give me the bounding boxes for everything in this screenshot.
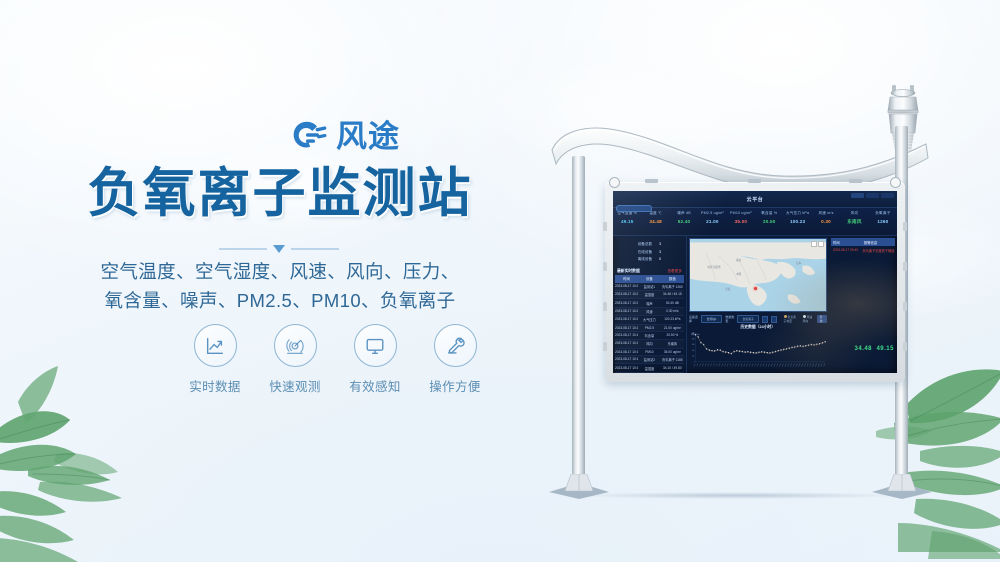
cell-time: 2023-08-17 10:17:00 bbox=[615, 349, 638, 355]
metric-strip: 空气湿度 % 49.15 温度 ℃ 34.48 噪声 dB 52.40 PM2.… bbox=[613, 208, 897, 236]
view-more-link[interactable]: 查看更多 bbox=[667, 269, 681, 274]
svg-text:1200: 1200 bbox=[692, 344, 695, 346]
metric-label: 负氧离子 bbox=[869, 211, 897, 216]
cell-value: 34.48 / 49.15 bbox=[661, 291, 684, 298]
map-label: 蒙古 bbox=[736, 258, 741, 262]
cell-value: 0.30 m/s bbox=[661, 308, 684, 315]
cell-device: 噪声 bbox=[638, 299, 661, 306]
metric-card: 负氧离子 1260 bbox=[869, 208, 897, 235]
metric-value: 100.23 bbox=[783, 219, 811, 224]
cell-value: 52.40 dB bbox=[661, 299, 684, 306]
metric-label: 噪声 dB bbox=[670, 211, 698, 216]
svg-text:23:00: 23:00 bbox=[762, 363, 765, 367]
layers-icon[interactable] bbox=[818, 241, 824, 247]
device-summary: 设备总数 3 在线设备 3 离线设备 0 bbox=[615, 238, 684, 268]
svg-text:11:30: 11:30 bbox=[699, 363, 702, 367]
cell-time: 2023-08-17 10:20:00 bbox=[615, 325, 638, 331]
feature-item-effective-sensing[interactable]: 有效感知 bbox=[335, 324, 415, 395]
feature-label: 操作方便 bbox=[415, 376, 495, 395]
legend-item: 风速风向 bbox=[803, 315, 814, 323]
svg-text:17:30: 17:30 bbox=[732, 363, 735, 367]
cell-value: 东南风 bbox=[661, 340, 684, 347]
datatype-select[interactable]: 负氧离子 bbox=[737, 315, 759, 323]
svg-text:22:00: 22:00 bbox=[757, 363, 760, 367]
brand-name: 风途 bbox=[336, 121, 400, 152]
summary-value: 0 bbox=[659, 256, 661, 264]
hanger-ring-left bbox=[609, 177, 620, 188]
svg-text:04:30: 04:30 bbox=[793, 363, 796, 367]
cell-time: 2023-08-17 10:18:00 bbox=[615, 340, 638, 347]
table-title: 最新实时数据 bbox=[617, 269, 640, 274]
cell-device: 温湿度 bbox=[638, 291, 661, 298]
cell-time: 2023-08-17 10:21:00 bbox=[615, 316, 638, 323]
station-map[interactable]: 中国 蒙古 哈萨克斯坦 印度 日本 bbox=[689, 238, 827, 312]
hero-text-panel: 风途 负氧离子监测站 空气温度、空气湿度、风速、风向、压力、 氧含量、噪声、PM… bbox=[0, 0, 560, 562]
svg-text:18:30: 18:30 bbox=[737, 363, 740, 367]
legend-item: 负氧离子浓度 bbox=[784, 315, 799, 323]
mount-tab bbox=[849, 179, 862, 183]
zoom-in-icon[interactable] bbox=[811, 241, 817, 247]
title-divider bbox=[219, 243, 339, 255]
page-title: 负氧离子监测站 bbox=[0, 164, 560, 223]
svg-text:14:00: 14:00 bbox=[713, 363, 716, 367]
hanger-ring-right bbox=[890, 177, 901, 188]
device-select-label: 设备选择 bbox=[689, 315, 698, 323]
metric-value: 0.30 bbox=[812, 219, 840, 224]
feature-icon-row: 实时数据 快速观测 bbox=[175, 324, 495, 395]
svg-text:20:00: 20:00 bbox=[746, 363, 749, 367]
header-nav[interactable] bbox=[851, 193, 894, 198]
table-caption: 最新实时数据 查看更多 bbox=[615, 268, 684, 275]
cell-device: 风向 bbox=[638, 340, 661, 347]
active-station-tab[interactable] bbox=[616, 205, 652, 212]
metric-card: 噪声 dB 52.40 bbox=[670, 208, 698, 235]
summary-label: 离线设备 bbox=[638, 256, 652, 264]
cell-time: 2023-08-17 10:24:00 bbox=[615, 291, 638, 298]
svg-text:06:30: 06:30 bbox=[804, 363, 807, 367]
map-label: 中国 bbox=[736, 272, 741, 276]
cell-time: 2023-08-17 10:25:00 bbox=[615, 283, 638, 290]
table-row[interactable]: 2023-08-17 10:25:00 监测站1 负氧离子 1260 bbox=[615, 283, 684, 291]
svg-text:16:30: 16:30 bbox=[726, 363, 729, 367]
svg-text:12:30: 12:30 bbox=[704, 363, 707, 367]
view-toggle-table-icon[interactable] bbox=[762, 316, 768, 323]
table-row[interactable]: 2023-08-17 10:15:00 温湿度 34.10 / 49.80 bbox=[615, 364, 684, 372]
summary-label: 在线设备 bbox=[638, 249, 652, 257]
metric-card: 氧含量 % 20.50 bbox=[755, 208, 783, 235]
side-notch bbox=[603, 342, 607, 351]
svg-text:400: 400 bbox=[692, 356, 694, 358]
wrench-icon bbox=[434, 324, 477, 367]
svg-text:11:00: 11:00 bbox=[696, 363, 699, 367]
alarm-time: 2023-08-17 09:40 bbox=[831, 246, 861, 254]
line-chart-icon bbox=[194, 324, 237, 367]
svg-text:23:30: 23:30 bbox=[765, 363, 768, 367]
svg-text:1600: 1600 bbox=[692, 338, 695, 340]
metric-card: 风速 m/s 0.30 bbox=[812, 208, 840, 235]
map-label: 印度 bbox=[725, 287, 730, 291]
feature-item-easy-operation[interactable]: 操作方便 bbox=[415, 324, 495, 395]
side-notch bbox=[603, 262, 607, 271]
left-panel: 设备总数 3 在线设备 3 离线设备 0 最新实时数据 bbox=[613, 236, 687, 373]
metric-value: 52.40 bbox=[670, 219, 698, 224]
subtitle-line-2: 氧含量、噪声、PM2.5、PM10、负氧离子 bbox=[0, 286, 560, 315]
svg-text:20:30: 20:30 bbox=[748, 363, 751, 367]
table-row[interactable]: 2023-08-17 10:23:00 噪声 52.40 dB bbox=[615, 299, 684, 307]
center-panel: 中国 蒙古 哈萨克斯坦 印度 日本 设备选择 监测站1 bbox=[687, 236, 829, 373]
column-header: 时间 bbox=[615, 275, 638, 283]
metric-value: 49.15 bbox=[613, 219, 641, 224]
table-row[interactable]: 2023-08-17 10:21:00 大气压力 100.23 kPa bbox=[615, 316, 684, 324]
right-panel: 时间 报警信息 2023-08-17 09:40 负氧离子浓度低于阈值 34.4… bbox=[829, 236, 897, 373]
dashboard-body: 设备总数 3 在线设备 3 离线设备 0 最新实时数据 bbox=[613, 236, 897, 373]
side-notch bbox=[603, 222, 607, 231]
column-header: 数值 bbox=[661, 275, 684, 283]
metric-card: 空气湿度 % 49.15 bbox=[613, 208, 641, 235]
table-row[interactable]: 2023-08-17 10:20:00 PM2.5 21.00 ug/m³ bbox=[615, 325, 684, 332]
big-readout: 34.48 49.15 bbox=[855, 337, 894, 355]
svg-text:14:30: 14:30 bbox=[715, 363, 718, 367]
readout-left: 34.48 bbox=[855, 346, 873, 352]
svg-text:07:00: 07:00 bbox=[806, 363, 809, 367]
query-button[interactable]: 查询 bbox=[817, 315, 827, 323]
cell-value: 100.23 kPa bbox=[661, 316, 684, 323]
side-notch bbox=[603, 302, 607, 311]
metric-card: 温度 ℃ 34.48 bbox=[641, 208, 669, 235]
subtitle-line-1: 空气温度、空气湿度、风速、风向、压力、 bbox=[0, 257, 560, 286]
svg-text:800: 800 bbox=[692, 350, 694, 352]
chart-legend[interactable]: 负氧离子浓度 风速风向 bbox=[784, 315, 814, 323]
svg-text:18:00: 18:00 bbox=[735, 363, 738, 367]
metric-card: 大气压力 kPa 100.23 bbox=[783, 208, 811, 235]
column-header: 设备 bbox=[638, 275, 661, 283]
header-chip[interactable] bbox=[851, 193, 864, 198]
svg-text:13:30: 13:30 bbox=[710, 363, 713, 367]
table-row[interactable]: 2023-08-17 10:24:00 温湿度 34.48 / 49.15 bbox=[615, 291, 684, 299]
cell-time: 2023-08-17 10:15:00 bbox=[615, 364, 638, 371]
svg-text:06:00: 06:00 bbox=[801, 363, 804, 367]
map-marker-station[interactable] bbox=[754, 287, 757, 290]
metric-card: PM10 ug/m³ 35.00 bbox=[727, 208, 755, 235]
cell-device: PM10 bbox=[638, 349, 661, 355]
svg-text:19:00: 19:00 bbox=[740, 363, 743, 367]
svg-text:02:30: 02:30 bbox=[782, 363, 785, 367]
svg-text:03:00: 03:00 bbox=[784, 363, 787, 367]
metric-label: 大气压力 kPa bbox=[783, 211, 811, 216]
cell-device: 监测站2 bbox=[638, 356, 661, 363]
table-row[interactable]: 2023-08-17 10:19:00 氧含量 20.50 % bbox=[615, 332, 684, 340]
cell-time: 2023-08-17 10:22:00 bbox=[615, 308, 638, 315]
svg-text:04:00: 04:00 bbox=[790, 363, 793, 367]
feature-item-realtime-data[interactable]: 实时数据 bbox=[175, 324, 255, 395]
dashboard-title: 云平台 bbox=[747, 196, 764, 203]
cell-device: 温湿度 bbox=[638, 364, 661, 371]
column-header: 报警信息 bbox=[862, 238, 880, 246]
feature-label: 有效感知 bbox=[335, 376, 415, 395]
metric-label: 风速 m/s bbox=[812, 211, 840, 216]
history-line-chart[interactable]: 0400800120016002000负氧离子 (个/cm³)10:3011:0… bbox=[689, 331, 827, 373]
metric-value: 35.00 bbox=[727, 219, 755, 224]
side-notch bbox=[903, 302, 907, 311]
metric-card: PM2.5 ug/m³ 21.00 bbox=[698, 208, 726, 235]
svg-text:00:00: 00:00 bbox=[768, 363, 771, 367]
feature-subtitle: 空气温度、空气湿度、风速、风向、压力、 氧含量、噪声、PM2.5、PM10、负氧… bbox=[0, 257, 560, 315]
wind-g-logo-icon bbox=[287, 115, 329, 157]
summary-row: 设备总数 3 bbox=[617, 241, 682, 249]
chart-title: 历史数据（24小时） bbox=[689, 325, 827, 330]
alarm-table-header: 时间 报警信息 bbox=[831, 238, 895, 246]
feature-item-fast-observation[interactable]: 快速观测 bbox=[255, 324, 335, 395]
svg-text:15:00: 15:00 bbox=[718, 363, 721, 367]
svg-text:0: 0 bbox=[693, 361, 694, 363]
table-row[interactable]: 2023-08-17 10:16:00 监测站2 负氧离子 1185 bbox=[615, 356, 684, 364]
metric-label: 氧含量 % bbox=[755, 211, 783, 216]
feature-label: 快速观测 bbox=[255, 376, 335, 395]
cell-device: 监测站1 bbox=[638, 283, 661, 290]
svg-text:21:30: 21:30 bbox=[754, 363, 757, 367]
header-chip[interactable] bbox=[881, 193, 894, 198]
cell-device: PM2.5 bbox=[638, 325, 661, 331]
side-notch bbox=[903, 262, 907, 271]
summary-row: 在线设备 3 bbox=[617, 249, 682, 257]
side-notch bbox=[903, 222, 907, 231]
svg-text:01:00: 01:00 bbox=[773, 363, 776, 367]
metric-card: 风向 东南风 bbox=[840, 208, 868, 235]
cell-time: 2023-08-17 10:19:00 bbox=[615, 332, 638, 339]
svg-text:21:00: 21:00 bbox=[751, 363, 754, 367]
outdoor-display-enclosure: 云平台 空气湿度 % 49.15 温度 ℃ 34.48 bbox=[605, 182, 905, 382]
header-chip[interactable] bbox=[866, 193, 879, 198]
cell-time: 2023-08-17 10:23:00 bbox=[615, 299, 638, 306]
cell-time: 2023-08-17 10:16:00 bbox=[615, 356, 638, 363]
datatype-select-label: 数据类型 bbox=[725, 315, 734, 323]
svg-text:09:00: 09:00 bbox=[817, 363, 820, 367]
metric-value: 34.48 bbox=[641, 219, 669, 224]
metric-value: 1260 bbox=[869, 219, 897, 224]
alarm-message: 负氧离子浓度低于阈值 bbox=[861, 246, 895, 254]
map-label: 哈萨克斯坦 bbox=[708, 265, 721, 269]
dashboard-screen[interactable]: 云平台 空气湿度 % 49.15 温度 ℃ 34.48 bbox=[613, 191, 897, 373]
svg-text:07:30: 07:30 bbox=[809, 363, 812, 367]
svg-text:05:30: 05:30 bbox=[798, 363, 801, 367]
cell-value: 负氧离子 1185 bbox=[661, 356, 684, 363]
metric-value: 21.00 bbox=[698, 219, 726, 224]
cell-value: 34.10 / 49.80 bbox=[661, 364, 684, 371]
metric-label: PM2.5 ug/m³ bbox=[698, 211, 726, 216]
svg-text:08:00: 08:00 bbox=[812, 363, 815, 367]
svg-text:12:00: 12:00 bbox=[702, 363, 705, 367]
station-tab-pill[interactable] bbox=[616, 205, 652, 212]
svg-text:02:00: 02:00 bbox=[779, 363, 782, 367]
summary-label: 设备总数 bbox=[638, 241, 652, 249]
table-row[interactable]: 2023-08-17 10:22:00 风速 0.30 m/s bbox=[615, 308, 684, 316]
map-label: 日本 bbox=[796, 261, 801, 265]
svg-text:08:30: 08:30 bbox=[815, 363, 818, 367]
radar-signal-icon bbox=[274, 324, 317, 367]
metric-value: 20.50 bbox=[755, 219, 783, 224]
table-row[interactable]: 2023-08-17 10:17:00 PM10 35.00 ug/m³ bbox=[615, 349, 684, 356]
summary-row: 离线设备 0 bbox=[617, 256, 682, 264]
svg-text:16:00: 16:00 bbox=[724, 363, 727, 367]
column-header: 时间 bbox=[831, 238, 862, 246]
table-body: 2023-08-17 10:25:00 监测站1 负氧离子 1260 2023-… bbox=[615, 283, 684, 373]
svg-text:17:00: 17:00 bbox=[729, 363, 732, 367]
dashboard-header: 云平台 bbox=[613, 191, 897, 208]
metric-value: 东南风 bbox=[840, 219, 868, 225]
metric-label: PM10 ug/m³ bbox=[727, 211, 755, 216]
brand-logo: 风途 bbox=[287, 115, 400, 157]
device-select[interactable]: 监测站1 bbox=[701, 315, 723, 323]
cell-device: 大气压力 bbox=[638, 316, 661, 323]
cell-value: 负氧离子 1260 bbox=[661, 283, 684, 290]
support-post-left bbox=[572, 156, 585, 486]
svg-text:01:30: 01:30 bbox=[776, 363, 779, 367]
cell-device: 风速 bbox=[638, 308, 661, 315]
alarm-row[interactable]: 2023-08-17 09:40 负氧离子浓度低于阈值 bbox=[831, 246, 895, 254]
cell-value: 20.50 % bbox=[661, 332, 684, 339]
svg-text:09:30: 09:30 bbox=[820, 363, 823, 367]
feature-label: 实时数据 bbox=[175, 376, 255, 395]
monitor-icon bbox=[354, 324, 397, 367]
chart-controls: 设备选择 监测站1 数据类型 负氧离子 负氧离子浓度 风速风向 查询 bbox=[689, 315, 827, 323]
svg-text:22:30: 22:30 bbox=[760, 363, 763, 367]
summary-value: 3 bbox=[659, 241, 661, 249]
readout-right: 49.15 bbox=[876, 346, 894, 352]
svg-text:19:30: 19:30 bbox=[743, 363, 746, 367]
svg-text:00:30: 00:30 bbox=[771, 363, 774, 367]
table-header: 时间 设备 数值 bbox=[615, 275, 684, 283]
cell-value: 21.00 ug/m³ bbox=[661, 325, 684, 331]
metric-label: 风向 bbox=[840, 211, 868, 216]
cell-device: 氧含量 bbox=[638, 332, 661, 339]
ground-shadow bbox=[570, 492, 900, 499]
summary-value: 3 bbox=[659, 249, 661, 257]
cell-value: 35.00 ug/m³ bbox=[661, 349, 684, 355]
svg-text:05:00: 05:00 bbox=[795, 363, 798, 367]
monitoring-station-kiosk: 云平台 空气湿度 % 49.15 温度 ℃ 34.48 bbox=[520, 60, 960, 530]
side-notch bbox=[903, 342, 907, 351]
view-toggle-chart-icon[interactable] bbox=[771, 316, 777, 323]
table-row[interactable]: 2023-08-17 10:18:00 风向 东南风 bbox=[615, 340, 684, 348]
svg-text:10:00: 10:00 bbox=[823, 363, 826, 367]
map-controls[interactable] bbox=[811, 241, 824, 247]
svg-text:13:00: 13:00 bbox=[707, 363, 710, 367]
svg-text:15:30: 15:30 bbox=[721, 363, 724, 367]
mount-tab bbox=[645, 179, 658, 183]
mount-tab bbox=[748, 179, 761, 183]
svg-text:03:30: 03:30 bbox=[787, 363, 790, 367]
